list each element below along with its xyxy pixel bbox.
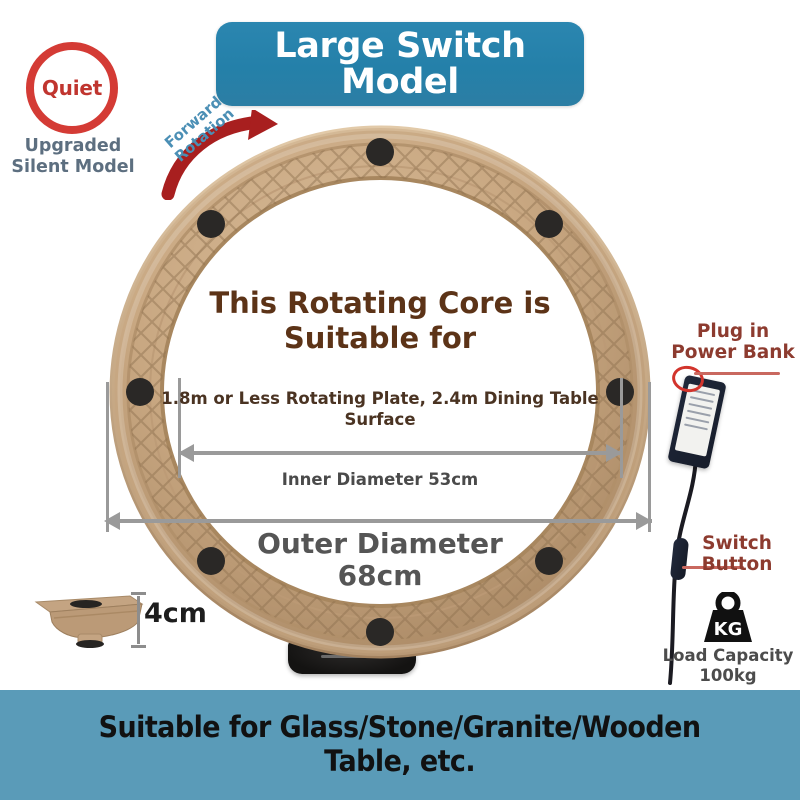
bottom-banner-line2: Table, etc.	[99, 745, 701, 779]
switch-button-label: Switch Button	[678, 534, 796, 575]
load-capacity-label: Load Capacity 100kg	[654, 646, 800, 686]
outer-dimension-line	[106, 519, 652, 523]
load-label-line1: Load Capacity	[654, 646, 800, 666]
quiet-badge: Quiet	[26, 42, 118, 134]
core-heading-line1: This Rotating Core is	[150, 286, 610, 321]
plug-leader-line	[694, 372, 780, 375]
height-dim-cap-bottom	[131, 645, 146, 648]
outer-diameter-line2: 68cm	[180, 560, 580, 592]
infographic-page: Quiet Upgraded Silent Model Large Switch…	[0, 0, 800, 800]
outer-dim-tick-left	[106, 382, 109, 532]
core-heading-line2: Suitable for	[150, 321, 610, 356]
outer-dim-arrow-left	[104, 512, 120, 530]
height-label: 4cm	[144, 598, 207, 629]
power-module-label	[675, 383, 720, 456]
kg-icon-text: KG	[714, 619, 743, 640]
title-line1: Large Switch	[274, 28, 525, 64]
bottom-banner: Suitable for Glass/Stone/Granite/Wooden …	[0, 690, 800, 800]
switch-label-line1: Switch	[678, 534, 796, 555]
core-subtext: 1.8m or Less Rotating Plate, 2.4m Dining…	[160, 388, 600, 431]
outer-diameter-label: Outer Diameter 68cm	[180, 528, 580, 592]
inner-dim-arrow-left	[178, 444, 194, 462]
inner-dim-arrow-right	[606, 444, 622, 462]
core-heading: This Rotating Core is Suitable for	[150, 286, 610, 357]
weight-kg-icon: KG	[700, 592, 756, 644]
inner-dimension-line	[178, 451, 622, 455]
plug-label-line1: Plug in	[662, 322, 800, 343]
height-dim-cap-top	[131, 592, 146, 595]
height-dimension-line	[136, 592, 140, 648]
title-line2: Model	[274, 64, 525, 100]
quiet-badge-label: Quiet	[42, 76, 102, 100]
inner-diameter-label: Inner Diameter 53cm	[200, 470, 560, 489]
load-label-line2: 100kg	[654, 666, 800, 686]
switch-label-line2: Button	[678, 555, 796, 576]
side-profile-cross-section	[34, 588, 146, 650]
title-banner: Large Switch Model	[216, 22, 584, 106]
inner-dim-tick-right	[620, 378, 623, 478]
plug-label-line2: Power Bank	[662, 343, 800, 364]
plug-in-power-bank-label: Plug in Power Bank	[662, 322, 800, 363]
height-dim-bar	[137, 596, 140, 644]
bottom-banner-line1: Suitable for Glass/Stone/Granite/Wooden	[99, 711, 701, 745]
bottom-banner-text: Suitable for Glass/Stone/Granite/Wooden …	[99, 711, 701, 778]
title-banner-text: Large Switch Model	[266, 28, 533, 101]
outer-diameter-line1: Outer Diameter	[180, 528, 580, 560]
